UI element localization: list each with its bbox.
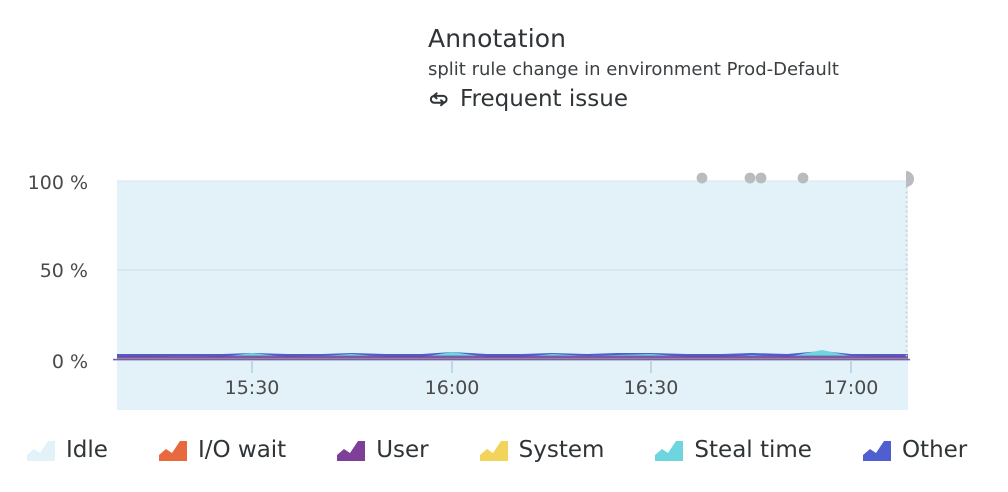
annotation-title: Annotation [428, 22, 948, 55]
legend-label-io-wait: I/O wait [198, 437, 286, 463]
area-chart-icon [479, 438, 509, 462]
annotation-marker-dot[interactable] [798, 173, 809, 184]
x-tick-label-1700: 17:00 [824, 377, 879, 399]
area-chart-icon [654, 438, 684, 462]
legend-label-steal-time: Steal time [694, 437, 812, 463]
y-tick-label-50: 50 % [40, 260, 88, 282]
legend-label-other: Other [902, 437, 967, 463]
annotation-tooltip: Annotation split rule change in environm… [428, 22, 948, 114]
legend-item-idle[interactable]: Idle [26, 437, 108, 463]
chart-legend: Idle I/O wait User System Steal time Oth… [0, 424, 1008, 476]
annotation-issue-label: Frequent issue [460, 84, 628, 114]
plot-area-background [117, 181, 908, 410]
annotation-issue-row: Frequent issue [428, 84, 948, 114]
legend-item-steal-time[interactable]: Steal time [654, 437, 812, 463]
area-chart-icon [336, 438, 366, 462]
legend-item-system[interactable]: System [479, 437, 605, 463]
repeat-icon [428, 88, 451, 111]
legend-item-other[interactable]: Other [862, 437, 967, 463]
y-tick-label-0: 0 % [52, 351, 88, 373]
area-chart-icon [26, 438, 56, 462]
legend-item-io-wait[interactable]: I/O wait [158, 437, 286, 463]
x-tick-label-1630: 16:30 [624, 377, 679, 399]
series-user [117, 356, 908, 359]
legend-label-user: User [376, 437, 428, 463]
annotation-marker-dot[interactable] [745, 173, 756, 184]
area-chart-icon [862, 438, 892, 462]
legend-item-user[interactable]: User [336, 437, 428, 463]
x-tick-label-1530: 15:30 [225, 377, 280, 399]
y-tick-label-100: 100 % [28, 172, 88, 194]
x-tick-label-1600: 16:00 [425, 377, 480, 399]
annotation-marker-dot[interactable] [756, 173, 767, 184]
legend-label-system: System [519, 437, 605, 463]
legend-label-idle: Idle [66, 437, 108, 463]
annotation-marker-dot[interactable] [697, 173, 708, 184]
area-chart-icon [158, 438, 188, 462]
annotation-subtitle: split rule change in environment Prod-De… [428, 57, 948, 83]
cpu-usage-area-chart[interactable]: 100 % 50 % 0 % 15:30 16:00 16:30 17:00 [0, 160, 1008, 410]
